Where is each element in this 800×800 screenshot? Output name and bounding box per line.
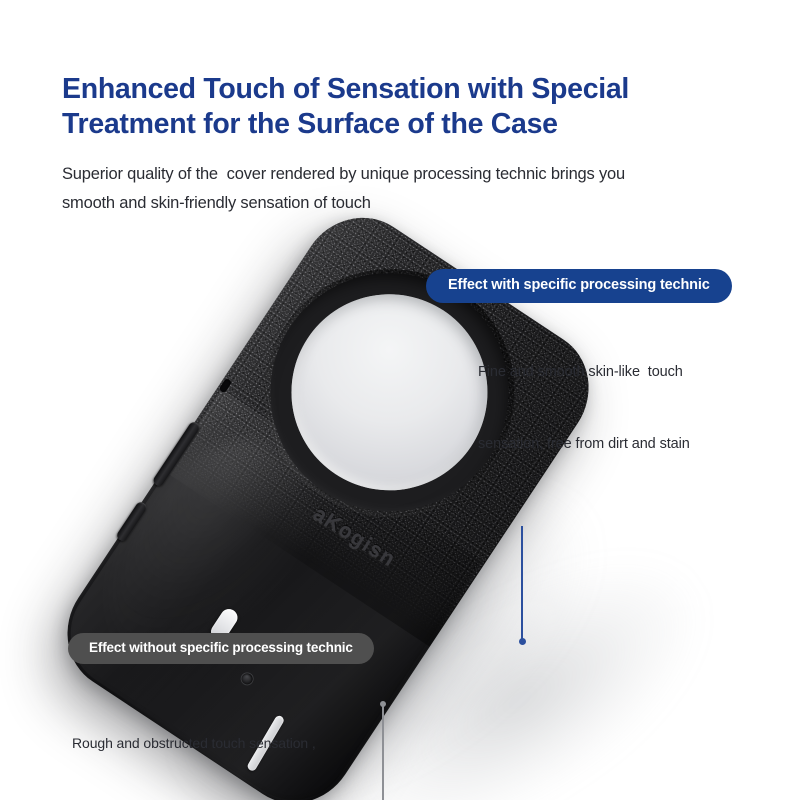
volume-button xyxy=(152,420,202,488)
status-badge-without-technic: Effect without specific processing techn… xyxy=(68,633,374,664)
page-subtitle-line-2: smooth and skin-friendly sensation of to… xyxy=(62,189,712,218)
callout-description-with-technic: Fine and smooth skin-like touch sensatio… xyxy=(478,312,690,504)
side-notch xyxy=(219,378,233,394)
product-feature-banner: Enhanced Touch of Sensation with Special… xyxy=(0,0,800,800)
status-badge-with-technic: Effect with specific processing technic xyxy=(426,269,732,303)
page-subtitle-line-1: Superior quality of the cover rendered b… xyxy=(62,160,712,189)
callout-description-with-technic-line-1: Fine and smooth skin-like touch xyxy=(478,360,690,384)
callout-description-without-technic-line-1: Rough and obstructed touch sensation , xyxy=(72,731,316,755)
leader-dot-with-technic xyxy=(519,638,526,645)
callout-description-with-technic-line-2: sensation, free from dirt and stain xyxy=(478,432,690,456)
page-title-line-1: Enhanced Touch of Sensation with Special xyxy=(62,72,682,107)
callout-description-without-technic: Rough and obstructed touch sensation , e… xyxy=(72,683,316,800)
page-subtitle: Superior quality of the cover rendered b… xyxy=(62,160,712,218)
power-button xyxy=(115,500,148,543)
page-title-line-2: Treatment for the Surface of the Case xyxy=(62,107,682,142)
leader-line-with-technic xyxy=(521,526,523,642)
leader-line-without-technic xyxy=(382,704,384,800)
brand-logo: aKogisn xyxy=(309,502,401,572)
page-title: Enhanced Touch of Sensation with Special… xyxy=(62,72,682,142)
leader-dot-without-technic xyxy=(380,701,386,707)
